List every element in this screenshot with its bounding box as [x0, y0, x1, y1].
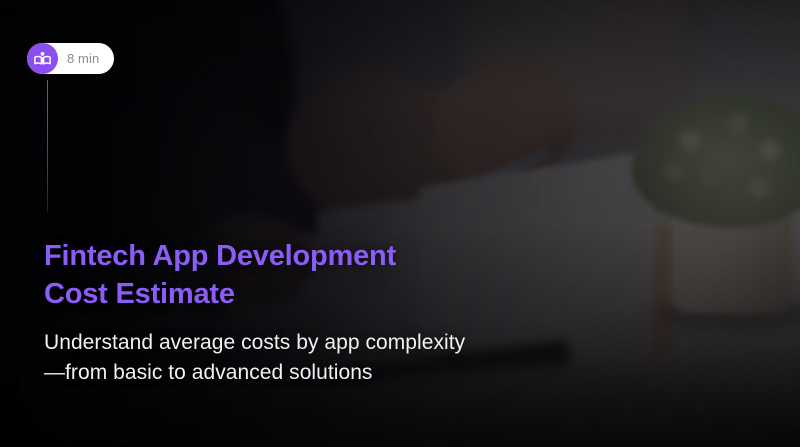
reading-time-badge: 8 min — [27, 43, 114, 74]
page-subtitle: Understand average costs by app complexi… — [44, 328, 465, 388]
person-reading-book-icon — [27, 43, 58, 74]
page-title-line-2: Cost Estimate — [44, 276, 396, 314]
hero-banner: 8 min Fintech App Development Cost Estim… — [0, 0, 800, 447]
page-subtitle-line-1: Understand average costs by app complexi… — [44, 328, 465, 358]
reading-time-label: 8 min — [67, 51, 99, 66]
page-title: Fintech App Development Cost Estimate — [44, 238, 396, 313]
page-subtitle-line-2: —from basic to advanced solutions — [44, 358, 465, 388]
banner-content: 8 min Fintech App Development Cost Estim… — [0, 0, 800, 447]
page-title-line-1: Fintech App Development — [44, 238, 396, 276]
vertical-accent-rule — [47, 80, 48, 213]
